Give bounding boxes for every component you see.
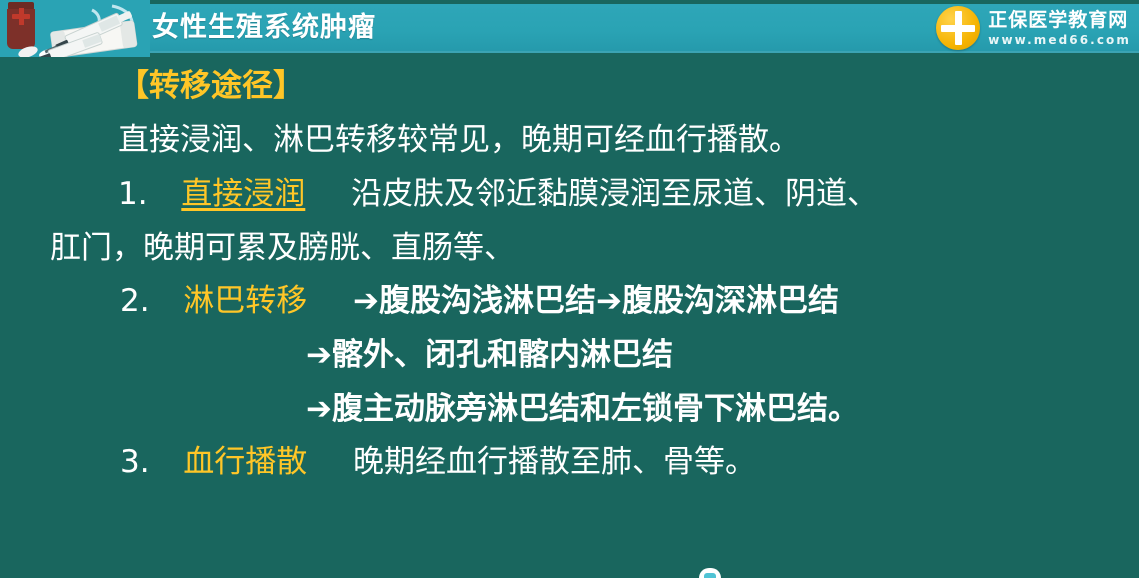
item-1-body: 沿皮肤及邻近黏膜浸润至尿道、阴道、 [351, 176, 878, 212]
item-3-body: 晚期经血行播散至肺、骨等。 [353, 444, 756, 480]
slide-root: 女性生殖系统肿瘤 正保医学教育网 www.med66.com 【转移途径】 直接… [0, 0, 1139, 578]
item-2-term: 淋巴转移 [183, 283, 307, 319]
item-1-continuation: 肛门，晚期可累及膀胱、直肠等、 [50, 233, 515, 264]
section-heading: 【转移途径】 [118, 71, 304, 102]
brand-url: www.med66.com [988, 34, 1131, 46]
item-2-body: ➔腹股沟浅淋巴结➔腹股沟深淋巴结 [353, 283, 839, 319]
medical-supplies-illustration [0, 0, 150, 57]
brand-name: 正保医学教育网 [988, 11, 1131, 30]
item-3-number: 3. [120, 444, 150, 480]
slide-content: 【转移途径】 直接浸润、淋巴转移较常见，晚期可经血行播散。 1. 直接浸润 沿皮… [0, 57, 1139, 578]
list-item-2: 2. 淋巴转移 ➔腹股沟浅淋巴结➔腹股沟深淋巴结 [120, 286, 839, 317]
item-1-number: 1. [118, 176, 148, 212]
item-3-term: 血行播散 [183, 444, 307, 480]
list-item-3: 3. 血行播散 晚期经血行播散至肺、骨等。 [120, 447, 756, 478]
brand-text: 正保医学教育网 www.med66.com [988, 11, 1131, 46]
item-1-term: 直接浸润 [181, 176, 305, 212]
intro-text: 直接浸润、淋巴转移较常见，晚期可经血行播散。 [118, 125, 800, 156]
list-item-1: 1. 直接浸润 沿皮肤及邻近黏膜浸润至尿道、阴道、 [118, 179, 878, 210]
item-2-number: 2. [120, 283, 150, 319]
item-2-sub-1: ➔髂外、闭孔和髂内淋巴结 [306, 340, 673, 371]
item-2-sub-2: ➔腹主动脉旁淋巴结和左锁骨下淋巴结。 [306, 394, 859, 425]
brand-logo: 正保医学教育网 www.med66.com [936, 2, 1131, 54]
medical-cross-icon [936, 6, 980, 50]
page-title: 女性生殖系统肿瘤 [152, 10, 376, 46]
